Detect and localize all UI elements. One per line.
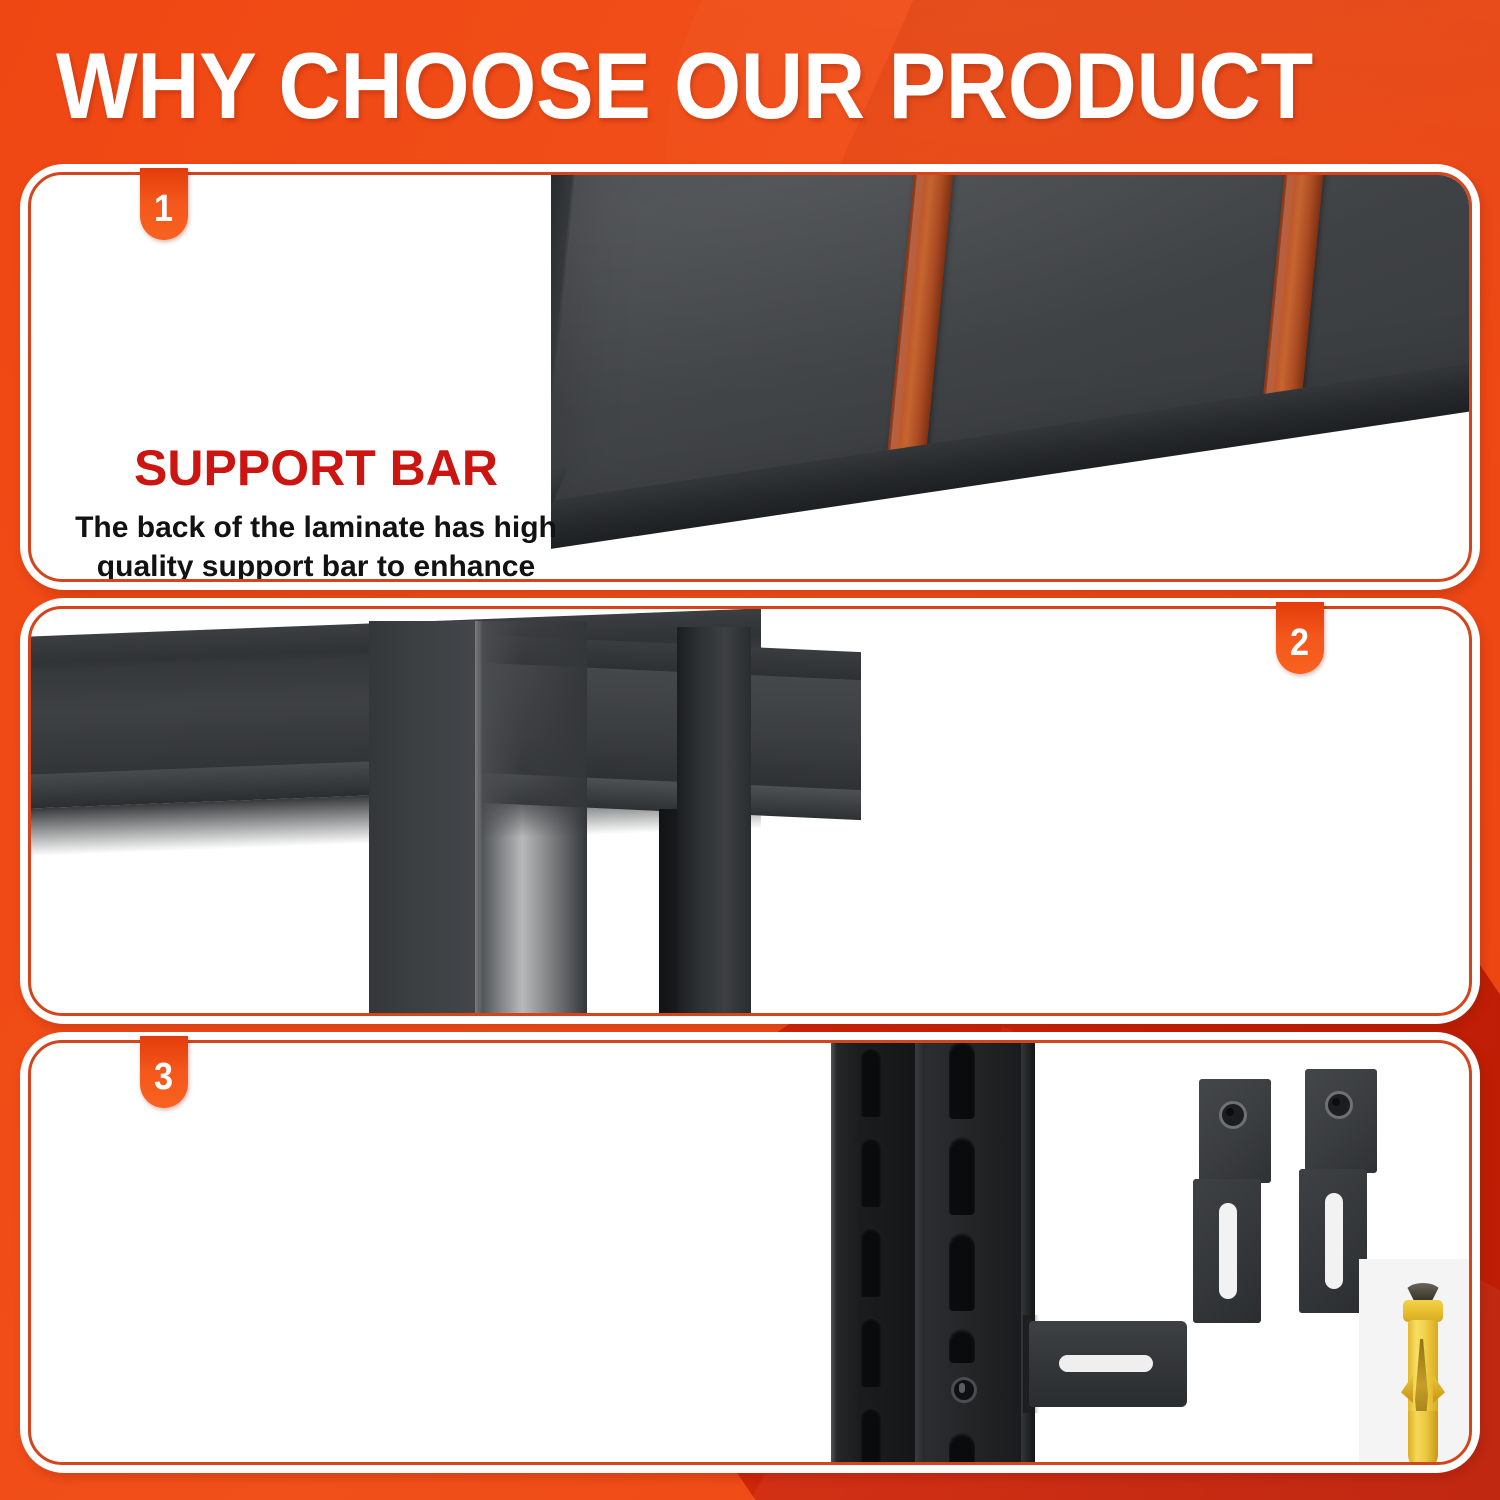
keyhole-slot: [949, 1433, 975, 1462]
header: WHY CHOOSE OUR PRODUCT: [0, 26, 1500, 146]
shelf-scene: [551, 175, 1469, 579]
clip-adjustment-slot: [1325, 1193, 1343, 1289]
front-leg-corner-highlight: [475, 621, 482, 1013]
step-badge-3: 3: [140, 1036, 188, 1108]
front-leg-left-face: [369, 621, 479, 1013]
clip-adjustment-slot: [1219, 1203, 1237, 1299]
step-number-3: 3: [154, 1058, 173, 1096]
anti-tipping-clip-1: [1193, 1079, 1271, 1323]
step-number-2: 2: [1290, 624, 1309, 662]
feature-card-foot-pads: FOOT PADS The Foot pads not only pro-tec…: [28, 606, 1472, 1016]
keyhole-slot: [861, 1227, 881, 1297]
anchor-wing-left: [1401, 1375, 1413, 1403]
back-leg: [677, 627, 751, 1013]
clip-bracket-arm: [1193, 1179, 1261, 1323]
clip-wall-plate: [1199, 1079, 1271, 1183]
keyhole-slot: [861, 1047, 881, 1117]
clip-screw-hole: [1219, 1101, 1247, 1129]
feature-body-1: The back of the laminate has high qualit…: [71, 508, 561, 582]
keyhole-slot: [949, 1043, 975, 1119]
post-screw-hole: [951, 1377, 977, 1403]
clip-bracket-arm: [1299, 1169, 1367, 1313]
keyhole-slot: [949, 1329, 975, 1363]
feature-card-anti-tipping-clips: ANTI-TIPPING CLIPS Anti-tipping clips ke…: [28, 1040, 1472, 1465]
keyhole-slot: [949, 1233, 975, 1311]
clip-adjustment-slot: [1059, 1355, 1153, 1372]
keyhole-slot: [861, 1317, 881, 1387]
post-corner-edge: [915, 1043, 925, 1462]
card-body: ANTI-TIPPING CLIPS Anti-tipping clips ke…: [28, 1040, 1472, 1465]
product-feature-infographic: WHY CHOOSE OUR PRODUCT SUPPORT BAR: [0, 0, 1500, 1500]
card-body: SUPPORT BAR The back of the laminate has…: [28, 172, 1472, 582]
keyhole-slot: [949, 1137, 975, 1215]
front-leg-right-face: [479, 621, 587, 1013]
anchor-tip: [1408, 1411, 1438, 1462]
keyhole-slot: [861, 1137, 881, 1207]
slotted-upright-post: [831, 1043, 1041, 1462]
anchor-collar: [1403, 1300, 1443, 1322]
anchor-wing-right: [1433, 1375, 1445, 1403]
feature-card-support-bar: SUPPORT BAR The back of the laminate has…: [28, 172, 1472, 582]
shelf-legs-illustration: [31, 609, 861, 1013]
step-number-1: 1: [154, 190, 173, 228]
wall-anchor-1: [1399, 1283, 1445, 1462]
mounted-anti-tipping-clip: [1029, 1321, 1187, 1407]
clip-screw-hole: [1325, 1091, 1353, 1119]
clip-wall-plate: [1305, 1069, 1377, 1173]
post-highlight: [831, 1043, 837, 1462]
feature-text-1: SUPPORT BAR The back of the laminate has…: [71, 443, 561, 582]
card-body: FOOT PADS The Foot pads not only pro-tec…: [28, 606, 1472, 1016]
step-badge-1: 1: [140, 168, 188, 240]
page-title: WHY CHOOSE OUR PRODUCT: [56, 39, 1313, 133]
step-badge-2: 2: [1276, 602, 1324, 674]
feature-title-1: SUPPORT BAR: [71, 443, 561, 494]
keyhole-slot: [861, 1407, 881, 1462]
anti-tipping-hardware-illustration: [801, 1043, 1469, 1462]
shelf-laminate-illustration: [551, 175, 1469, 579]
